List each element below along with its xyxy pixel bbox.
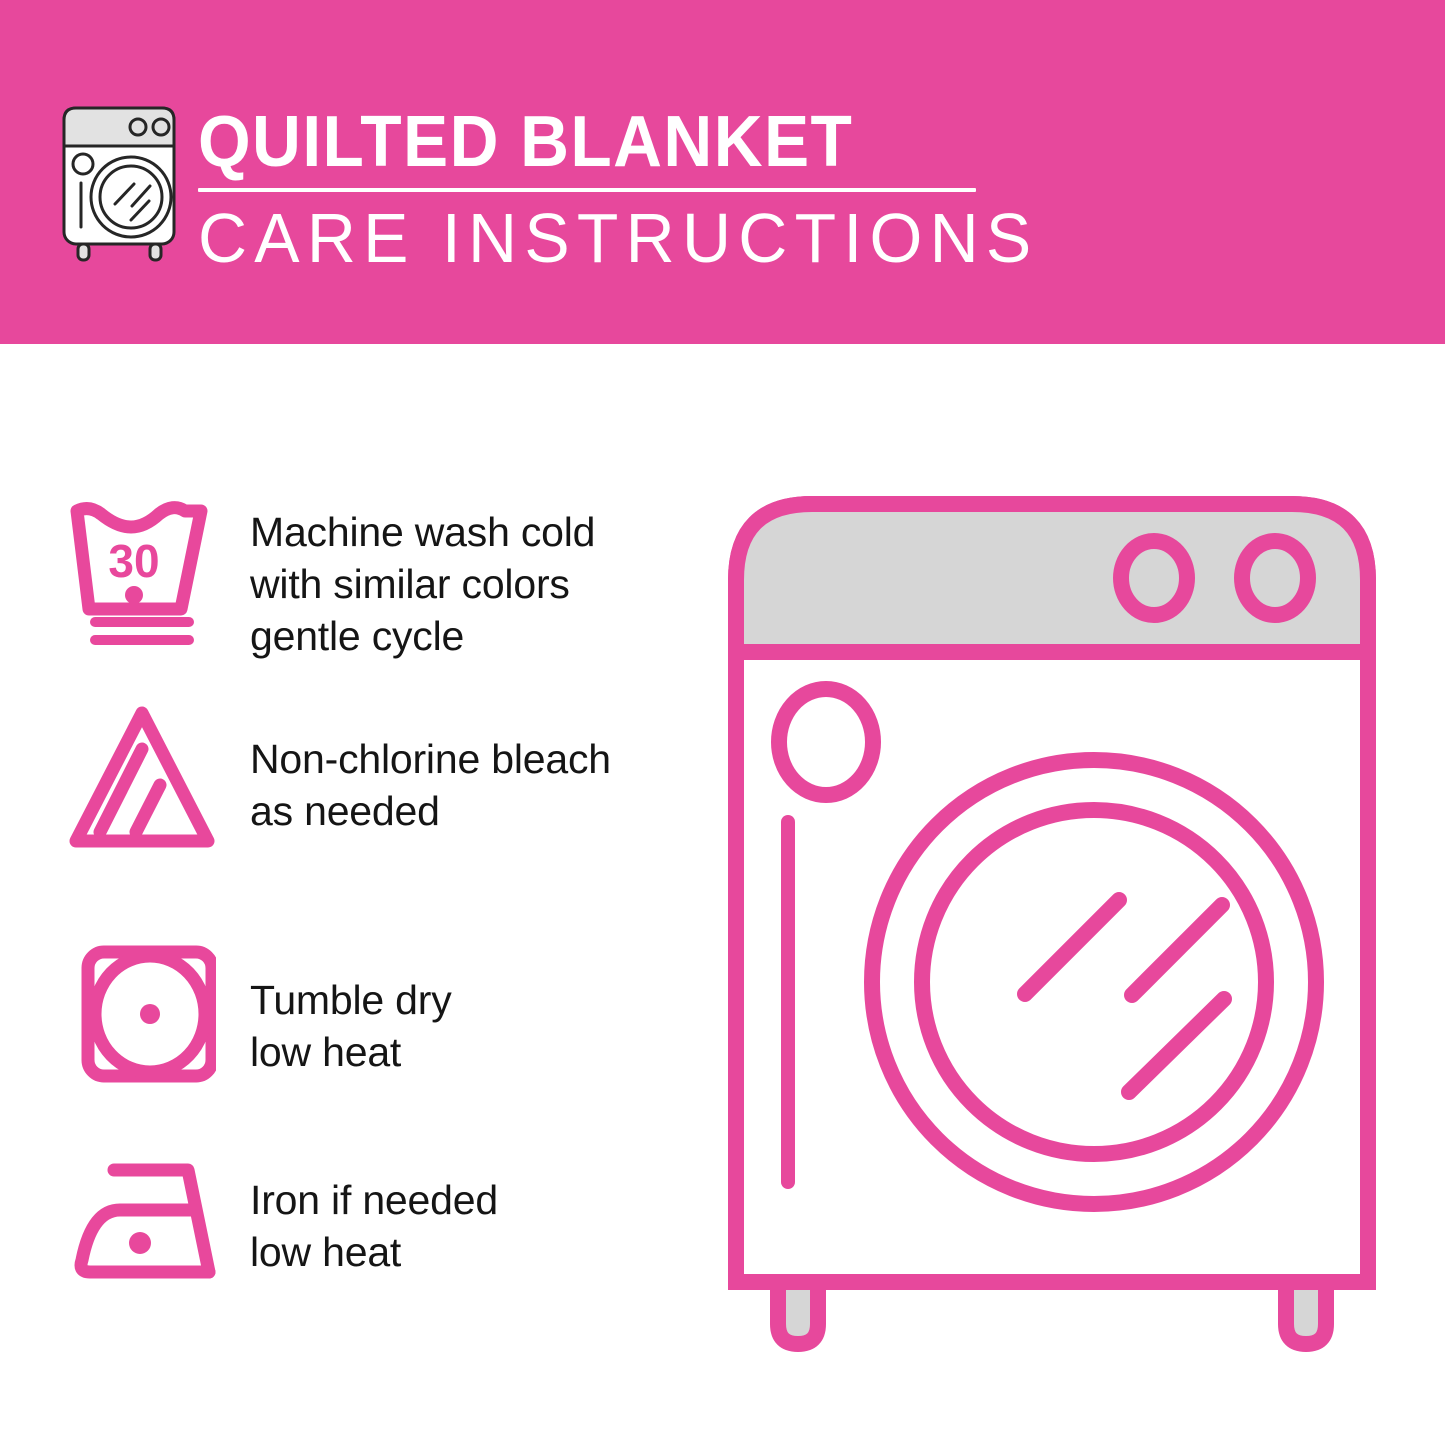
washer-leg — [778, 1282, 818, 1344]
washer-knob — [1121, 541, 1187, 615]
wash-temperature-label: 30 — [108, 535, 159, 587]
care-item-line: Iron if needed — [250, 1174, 686, 1226]
tumble-dry-icon — [66, 938, 231, 1086]
header-divider — [198, 188, 976, 192]
washing-machine-icon — [58, 100, 194, 262]
care-instructions-page: QUILTED BLANKET CARE INSTRUCTIONS 30 Mac… — [0, 0, 1445, 1445]
washer-knob — [1242, 541, 1308, 615]
care-item-label: Machine wash cold with similar colors ge… — [231, 497, 686, 662]
iron-icon — [66, 1148, 231, 1296]
header-text-block: QUILTED BLANKET CARE INSTRUCTIONS — [198, 104, 988, 274]
care-item-iron: Iron if needed low heat — [66, 1148, 686, 1296]
washer-leg — [1286, 1282, 1326, 1344]
page-subtitle: CARE INSTRUCTIONS — [198, 202, 964, 274]
care-item-line: as needed — [250, 785, 686, 837]
care-item-tumble-dry: Tumble dry low heat — [66, 938, 686, 1086]
care-item-line: low heat — [250, 1226, 686, 1278]
header-inner: QUILTED BLANKET CARE INSTRUCTIONS — [0, 0, 1445, 344]
care-item-line: Machine wash cold — [250, 506, 686, 558]
machine-wash-tub-icon: 30 — [66, 497, 231, 649]
care-item-label: Iron if needed low heat — [231, 1148, 686, 1278]
care-item-line: Non-chlorine bleach — [250, 733, 686, 785]
page-title: QUILTED BLANKET — [198, 104, 941, 180]
care-item-line: with similar colors — [250, 558, 686, 610]
care-item-label: Non-chlorine bleach as needed — [231, 703, 686, 837]
care-item-line: low heat — [250, 1026, 686, 1078]
header-band: QUILTED BLANKET CARE INSTRUCTIONS — [0, 0, 1445, 344]
care-item-line: gentle cycle — [250, 610, 686, 662]
care-item-bleach: Non-chlorine bleach as needed — [66, 703, 686, 851]
non-chlorine-bleach-triangle-icon — [66, 703, 231, 851]
care-item-machine-wash: 30 Machine wash cold with similar colors… — [66, 497, 686, 662]
washer-drum-inner — [922, 810, 1266, 1154]
washer-indicator-light — [779, 689, 873, 795]
care-item-line: Tumble dry — [250, 974, 686, 1026]
washing-machine-illustration — [722, 482, 1382, 1362]
care-item-label: Tumble dry low heat — [231, 938, 686, 1078]
